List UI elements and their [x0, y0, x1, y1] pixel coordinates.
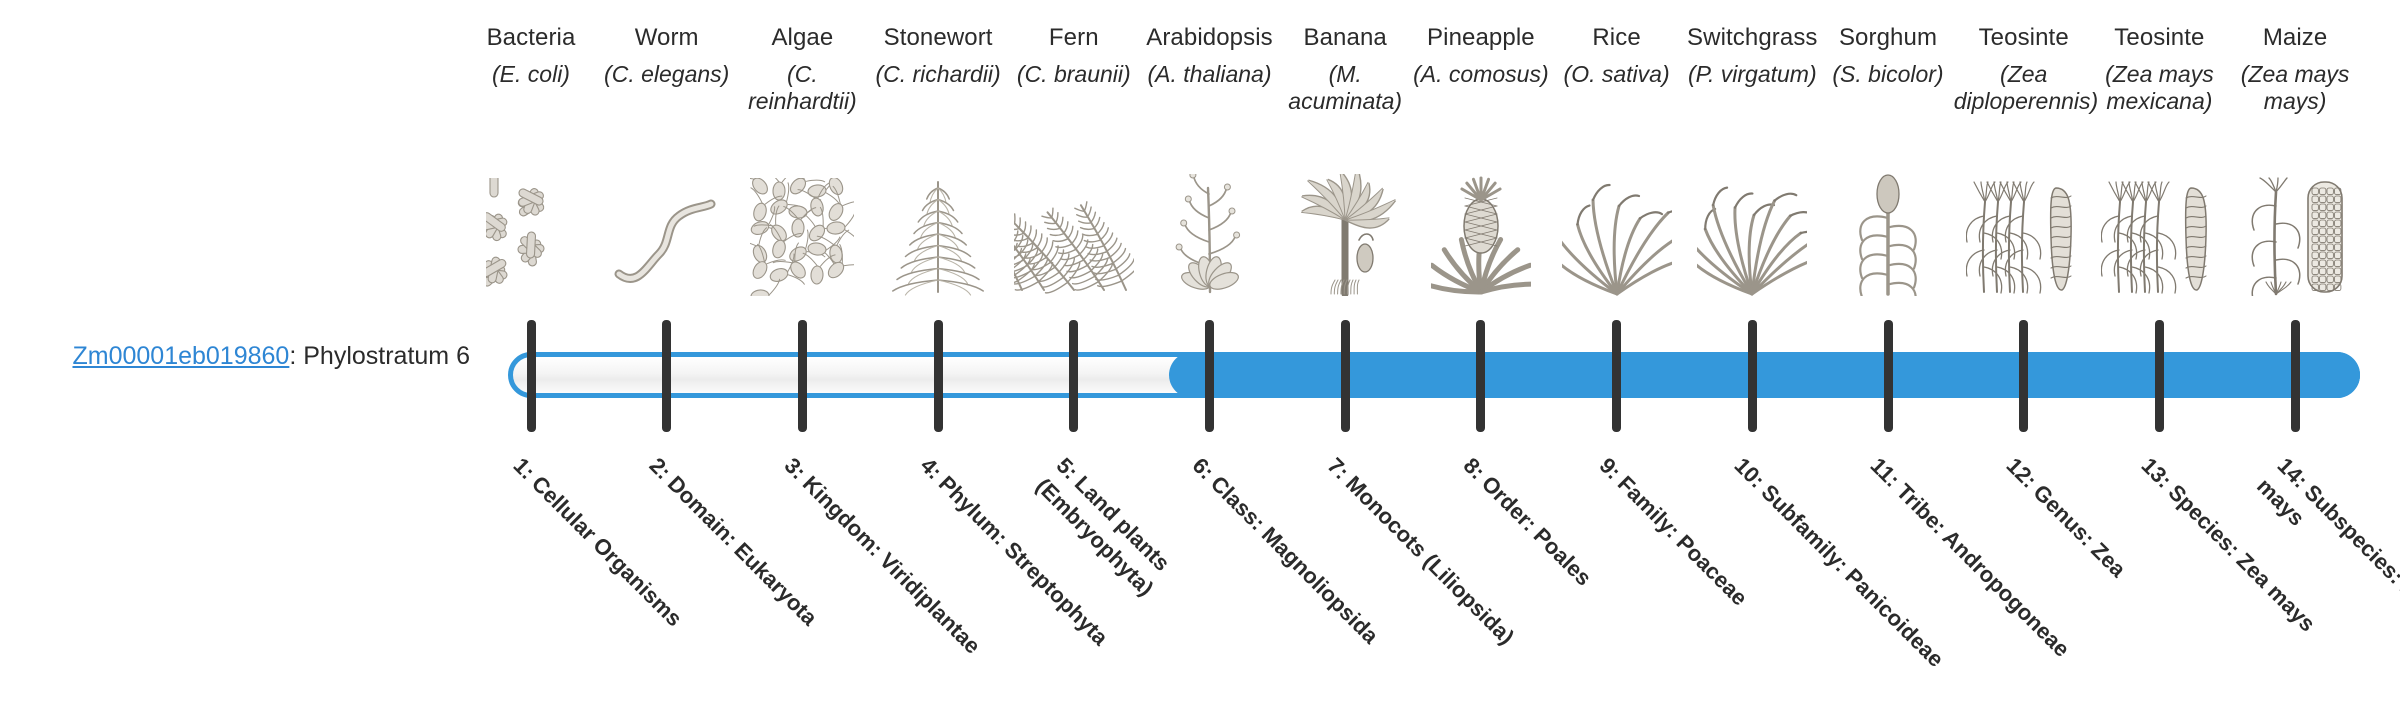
- rank-number: 10:: [1730, 453, 1770, 493]
- taxonomy-rank-7: 7: Monocots (Liliopsida): [1321, 452, 1553, 684]
- maize-icon: [2220, 168, 2370, 296]
- species-latin-name: (C. elegans): [597, 61, 737, 88]
- species-column-maize-14: Maize(Zea mays mays): [2225, 24, 2365, 116]
- species-column-algae-3: Algae(C. reinhardtii): [732, 24, 872, 116]
- species-column-stonewort-4: Stonewort(C. richardii): [868, 24, 1008, 88]
- taxonomy-rank-2: 2: Domain: Eukaryota: [642, 452, 874, 684]
- species-latin-name: (S. bicolor): [1818, 61, 1958, 88]
- tick-mark-14: [2291, 320, 2300, 432]
- species-common-name: Bacteria: [461, 24, 601, 52]
- fern-icon: [999, 168, 1149, 296]
- rank-line-1: Cellular: [527, 471, 602, 546]
- species-common-name: Teosinte: [2089, 24, 2229, 52]
- arabidopsis-icon: [1135, 168, 1285, 296]
- species-common-name: Teosinte: [1954, 24, 2094, 52]
- rank-line-1: Genus:: [2028, 480, 2099, 551]
- taxonomy-rank-10: 10: Subfamily: Panicoideae: [1728, 452, 1960, 684]
- rank-line-2: Viridiplantae: [875, 548, 986, 659]
- species-common-name: Pineapple: [1411, 24, 1551, 52]
- gene-phylostratum-label: Zm00001eb019860: Phylostratum 6: [40, 342, 470, 371]
- rank-line-2: Zea: [2086, 537, 2130, 581]
- rank-line-1: Domain:: [662, 471, 742, 551]
- phylostratum-chart: Zm00001eb019860: Phylostratum 6 Bacteria…: [0, 0, 2400, 580]
- species-latin-name: (E. coli): [461, 61, 601, 88]
- taxonomy-rank-1: 1: Cellular Organisms: [507, 452, 739, 684]
- bacteria-icon: [456, 168, 606, 296]
- tick-mark-1: [527, 320, 536, 432]
- tick-mark-13: [2155, 320, 2164, 432]
- sorghum-icon: [1813, 168, 1963, 296]
- stonewort-icon: [863, 168, 1013, 296]
- species-column-arabidopsis-6: Arabidopsis(A. thaliana): [1140, 24, 1280, 88]
- tick-mark-2: [662, 320, 671, 432]
- rank-line-2: Poales: [1529, 523, 1597, 591]
- algae-icon: [727, 168, 877, 296]
- tick-mark-6: [1205, 320, 1214, 432]
- label-separator: :: [289, 342, 303, 370]
- species-latin-name: (C. richardii): [868, 61, 1008, 88]
- species-common-name: Worm: [597, 24, 737, 52]
- species-common-name: Algae: [732, 24, 872, 52]
- taxonomy-rank-8: 8: Order: Poales: [1457, 452, 1689, 684]
- rank-line-1: Subspecies:: [2300, 480, 2400, 589]
- species-latin-name: (A. comosus): [1411, 61, 1551, 88]
- species-common-name: Fern: [1004, 24, 1144, 52]
- switchgrass-icon: [1677, 168, 1827, 296]
- taxonomy-rank-12: 12: Genus: Zea: [1999, 452, 2231, 684]
- species-latin-name: (C. braunii): [1004, 61, 1144, 88]
- teosinte-icon: [2084, 168, 2234, 296]
- rank-line-1: Tribe:: [1892, 479, 1952, 539]
- rank-line-2: Eukaryota: [729, 537, 822, 630]
- teosinte-icon: [1949, 168, 2099, 296]
- rice-icon: [1542, 168, 1692, 296]
- rank-line-1: Kingdom:: [798, 471, 888, 561]
- species-column-switchgrass-10: Switchgrass(P. virgatum): [1682, 24, 1822, 88]
- species-common-name: Maize: [2225, 24, 2365, 52]
- species-latin-name: (Zea mays mays): [2225, 61, 2365, 115]
- taxonomy-rank-9: 9: Family: Poaceae: [1592, 452, 1824, 684]
- rank-line-2: Zea mays: [2232, 548, 2321, 637]
- species-column-banana-7: Banana(M. acuminata): [1275, 24, 1415, 116]
- species-latin-name: (O. sativa): [1547, 61, 1687, 88]
- pineapple-icon: [1406, 168, 1556, 296]
- tick-mark-11: [1884, 320, 1893, 432]
- rank-line-1: Species:: [2164, 480, 2246, 562]
- phylostratum-value: Phylostratum 6: [303, 342, 470, 370]
- species-column-bacteria-1: Bacteria(E. coli): [461, 24, 601, 88]
- rank-number: 11:: [1866, 453, 1905, 492]
- species-latin-name: (Zea diploperennis): [1954, 61, 2094, 115]
- tick-mark-8: [1476, 320, 1485, 432]
- species-column-worm-2: Worm(C. elegans): [597, 24, 737, 88]
- rank-number: 12:: [2001, 453, 2041, 493]
- tick-mark-4: [934, 320, 943, 432]
- rank-line-1: Family:: [1612, 471, 1684, 543]
- gene-id-link[interactable]: Zm00001eb019860: [72, 342, 289, 370]
- rank-line-1: Subfamily:: [1757, 480, 1854, 577]
- rank-line-2: (Liliopsida): [1419, 549, 1520, 650]
- tick-mark-9: [1612, 320, 1621, 432]
- species-latin-name: (M. acuminata): [1275, 61, 1415, 115]
- tick-mark-5: [1069, 320, 1078, 432]
- rank-line-1: Monocots: [1341, 471, 1432, 562]
- worm-icon: [592, 168, 742, 296]
- tick-mark-3: [798, 320, 807, 432]
- rank-number: 13:: [2137, 453, 2177, 493]
- species-column-sorghum-11: Sorghum(S. bicolor): [1818, 24, 1958, 88]
- tick-mark-7: [1341, 320, 1350, 432]
- species-common-name: Arabidopsis: [1140, 24, 1280, 52]
- rank-line-1: Phylum:: [934, 471, 1013, 550]
- rank-line-1: Class:: [1205, 471, 1269, 535]
- rank-line-2: Magnoliopsida: [1256, 522, 1383, 649]
- tick-mark-10: [1748, 320, 1757, 432]
- species-column-teosinte-12: Teosinte(Zea diploperennis): [1954, 24, 2094, 116]
- species-latin-name: (Zea mays mexicana): [2089, 61, 2229, 115]
- species-latin-name: (P. virgatum): [1682, 61, 1822, 88]
- rank-line-1: Order:: [1477, 471, 1542, 536]
- rank-line-2: Andropogoneae: [1938, 525, 2075, 662]
- rank-line-2: Poaceae: [1671, 530, 1752, 611]
- species-common-name: Sorghum: [1818, 24, 1958, 52]
- species-column-rice-9: Rice(O. sativa): [1547, 24, 1687, 88]
- taxonomy-rank-3: 3: Kingdom: Viridiplantae: [778, 452, 1010, 684]
- species-common-name: Banana: [1275, 24, 1415, 52]
- taxonomy-rank-11: 11: Tribe: Andropogoneae: [1864, 452, 2096, 684]
- species-common-name: Stonewort: [868, 24, 1008, 52]
- species-column-fern-5: Fern(C. braunii): [1004, 24, 1144, 88]
- rank-line-2: Organisms: [588, 532, 687, 631]
- species-common-name: Rice: [1547, 24, 1687, 52]
- species-latin-name: (A. thaliana): [1140, 61, 1280, 88]
- banana-icon: [1270, 168, 1420, 296]
- species-column-pineapple-8: Pineapple(A. comosus): [1411, 24, 1551, 88]
- species-common-name: Switchgrass: [1682, 24, 1822, 52]
- species-latin-name: (C. reinhardtii): [732, 61, 872, 115]
- tick-mark-12: [2019, 320, 2028, 432]
- species-column-teosinte-13: Teosinte(Zea mays mexicana): [2089, 24, 2229, 116]
